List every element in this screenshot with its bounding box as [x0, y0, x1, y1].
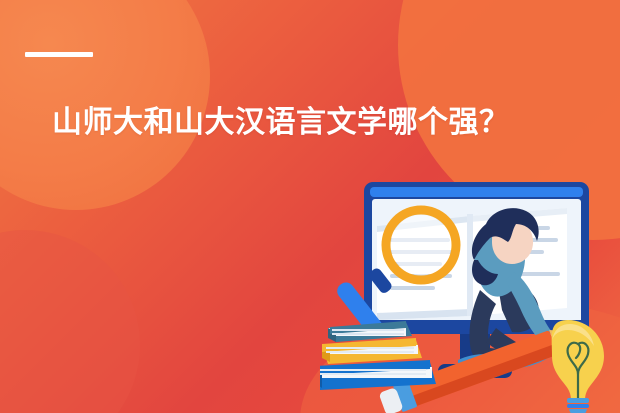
page-title: 山师大和山大汉语言文学哪个强？ — [52, 103, 510, 142]
lightbulb-graphic — [552, 320, 604, 413]
cover-canvas: 山师大和山大汉语言文学哪个强？ — [0, 0, 620, 413]
study-research-illustration — [320, 168, 620, 413]
background-circle-bottom-left — [0, 230, 140, 413]
title-accent-rule — [25, 52, 93, 57]
